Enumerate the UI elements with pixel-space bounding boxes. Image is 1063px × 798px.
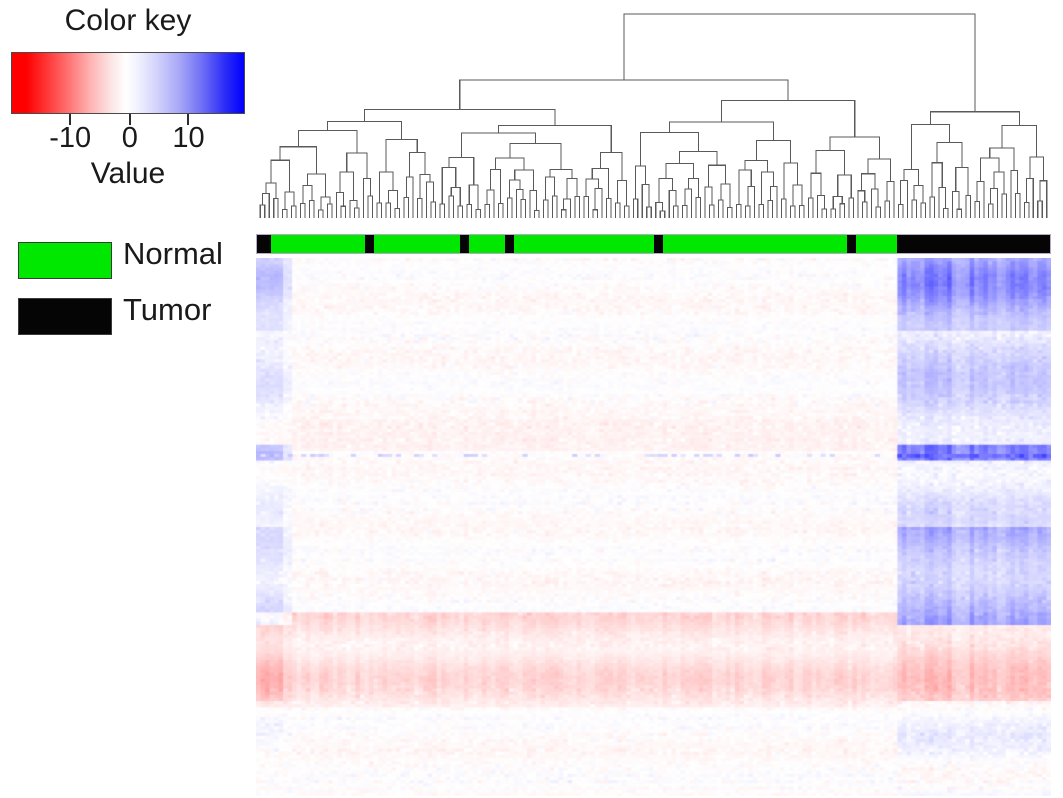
- color-key-title: Color key: [8, 4, 248, 38]
- class-segment-normal-5: [469, 235, 505, 253]
- legend-row-tumor: Tumor: [18, 294, 248, 350]
- dendrogram-svg: [256, 4, 1051, 226]
- class-segment-tumor-0: [257, 235, 271, 253]
- legend-label-tumor: Tumor: [123, 292, 211, 328]
- legend-label-normal: Normal: [123, 236, 223, 272]
- sample-class-bar: [256, 234, 1051, 254]
- heatmap-plot: [256, 0, 1051, 798]
- color-key-tick-label-0: -10: [49, 122, 91, 155]
- legend-swatch-normal: [18, 242, 112, 279]
- class-segment-tumor-4: [460, 235, 469, 253]
- class-segment-tumor-10: [847, 235, 856, 253]
- class-segment-tumor-2: [365, 235, 374, 253]
- heatmap-canvas: [256, 258, 1051, 796]
- class-segment-tumor-6: [505, 235, 514, 253]
- column-dendrogram: [256, 4, 1051, 226]
- color-key: Color key -10010 Value: [8, 4, 248, 194]
- class-segment-tumor-12: [897, 235, 1050, 253]
- class-segment-tumor-8: [654, 235, 663, 253]
- legend-swatch-tumor: [18, 298, 112, 335]
- class-segment-normal-1: [271, 235, 366, 253]
- class-segment-normal-7: [514, 235, 654, 253]
- color-key-tick-label-1: 0: [122, 122, 138, 155]
- class-segment-normal-3: [374, 235, 460, 253]
- class-segment-normal-9: [663, 235, 848, 253]
- legend-row-normal: Normal: [18, 238, 248, 294]
- class-segment-normal-11: [856, 235, 897, 253]
- heatmap-matrix: [256, 258, 1051, 796]
- color-key-axis-title: Value: [8, 157, 248, 191]
- color-key-tick-label-2: 10: [172, 122, 204, 155]
- color-key-tick-labels: -10010: [8, 122, 248, 156]
- color-key-gradient-bar: [11, 52, 245, 114]
- dendrogram-branches: [260, 14, 1047, 218]
- class-legend: NormalTumor: [18, 238, 248, 350]
